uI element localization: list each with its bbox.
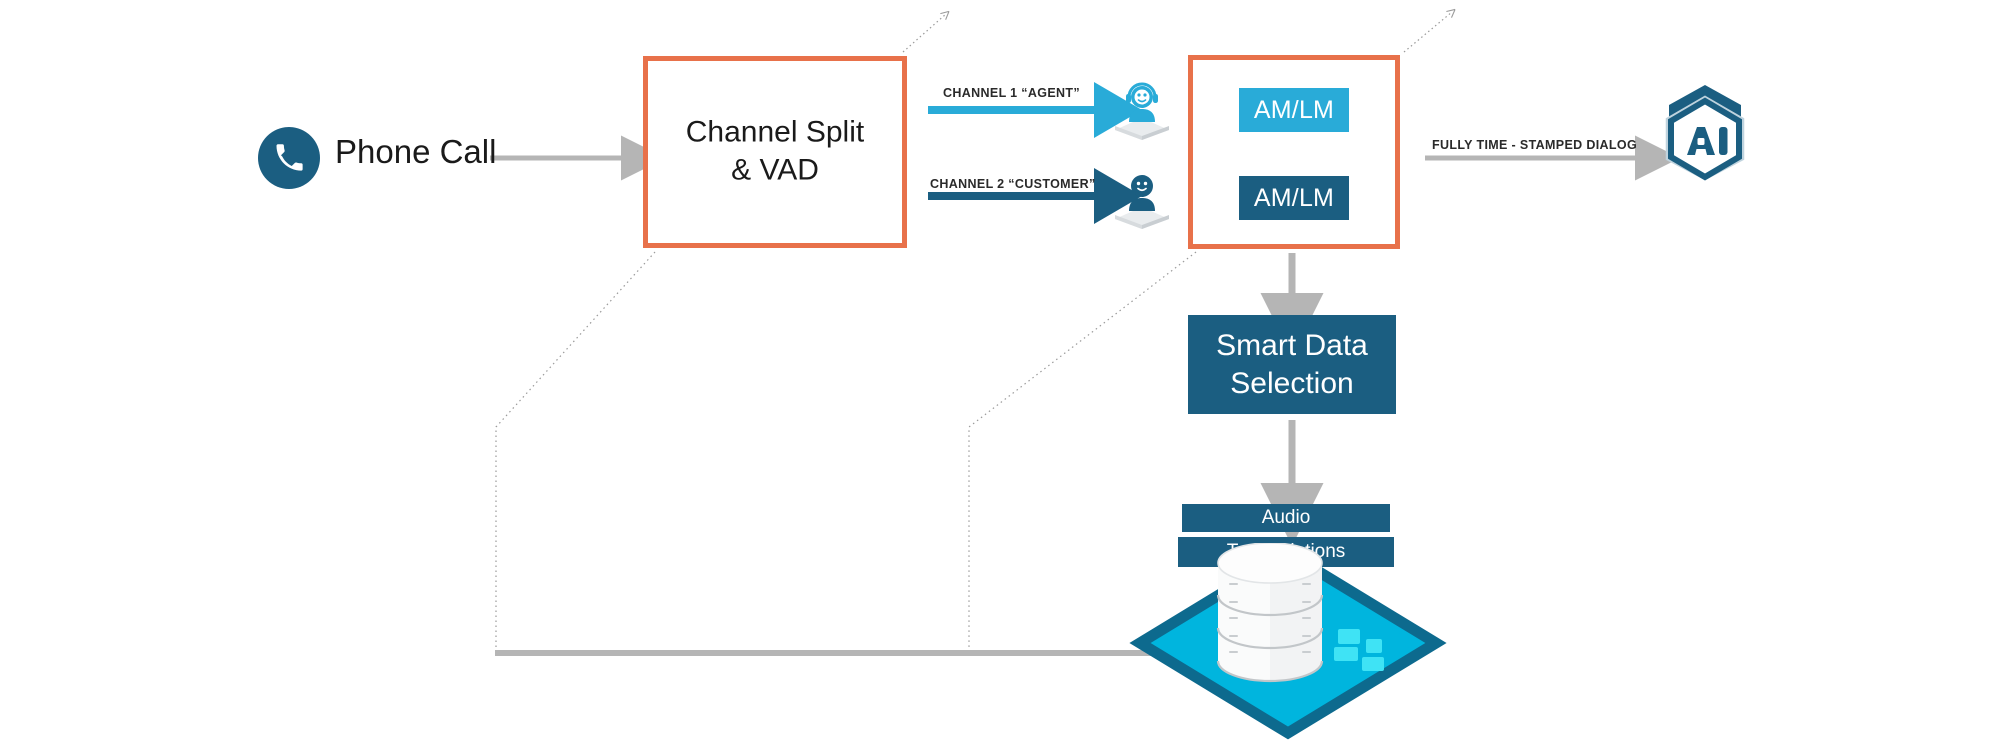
smart-data-selection-box[interactable]: Smart Data Selection — [1188, 315, 1396, 414]
callout-channel-split — [496, 252, 655, 652]
channel-2-label: CHANNEL 2 “CUSTOMER” — [930, 177, 1096, 191]
channel-1-label: CHANNEL 1 “AGENT” — [943, 86, 1080, 100]
smart-data-line-2: Selection — [1216, 365, 1368, 403]
phone-icon — [258, 127, 320, 189]
agent-headset-avatar — [1111, 78, 1173, 140]
fully-time-stamped-dialog-label: FULLY TIME - STAMPED DIALOG — [1432, 138, 1637, 152]
callout-arrow-models-top — [1404, 12, 1452, 52]
smart-data-selection-label: Smart Data Selection — [1216, 327, 1368, 403]
diagram-canvas: Phone Call Channel Split & VAD CHANNEL 1… — [0, 0, 2000, 750]
customer-avatar — [1111, 167, 1173, 229]
database-storage-icon — [1128, 543, 1448, 743]
channel-split-vad-box[interactable]: Channel Split & VAD — [643, 56, 907, 248]
channel-split-line-2: & VAD — [648, 152, 902, 190]
phone-call-label: Phone Call — [335, 133, 496, 171]
am-lm-chip-customer[interactable]: AM/LM — [1239, 176, 1349, 220]
channel-split-label: Channel Split & VAD — [648, 114, 902, 191]
ai-hexagon-logo — [1661, 83, 1749, 181]
channel-split-line-1: Channel Split — [648, 114, 902, 152]
audio-bar[interactable]: Audio — [1182, 504, 1390, 532]
am-lm-chip-agent[interactable]: AM/LM — [1239, 88, 1349, 132]
am-lm-models-box[interactable]: AM/LM AM/LM — [1188, 55, 1400, 249]
callout-arrow-split-top — [903, 14, 946, 52]
smart-data-line-1: Smart Data — [1216, 327, 1368, 365]
